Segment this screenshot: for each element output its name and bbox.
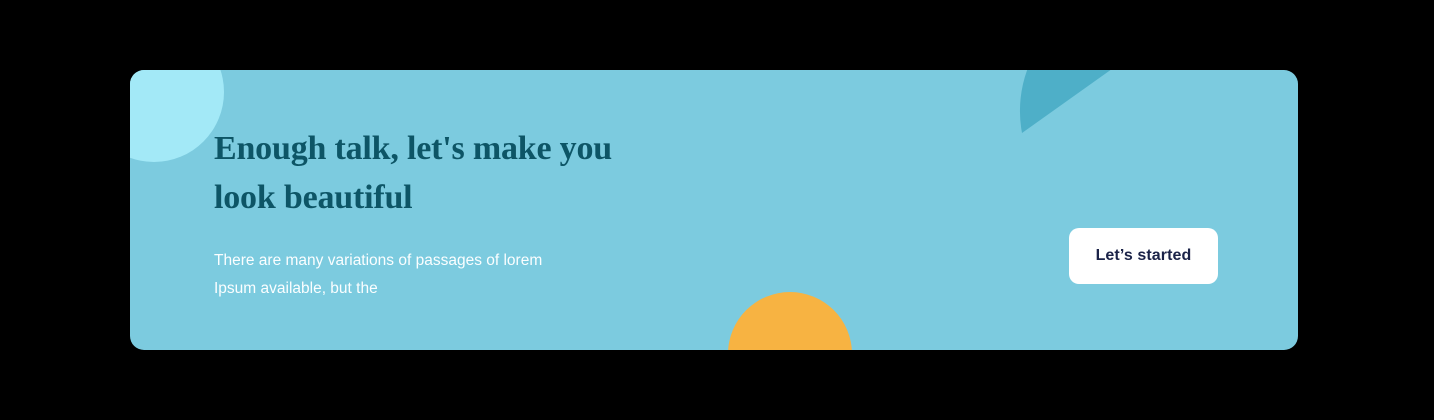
lets-started-button[interactable]: Let’s started [1069,228,1218,284]
banner-subtext: There are many variations of passages of… [214,222,774,303]
promo-banner-card: Enough talk, let's make you look beautif… [130,70,1298,350]
banner-heading: Enough talk, let's make you look beautif… [214,124,774,222]
decorative-wedge-top-right-icon [996,70,1192,208]
page-canvas: Enough talk, let's make you look beautif… [0,0,1434,420]
decorative-circle-top-left-icon [130,70,224,162]
banner-text-block: Enough talk, let's make you look beautif… [214,124,774,303]
